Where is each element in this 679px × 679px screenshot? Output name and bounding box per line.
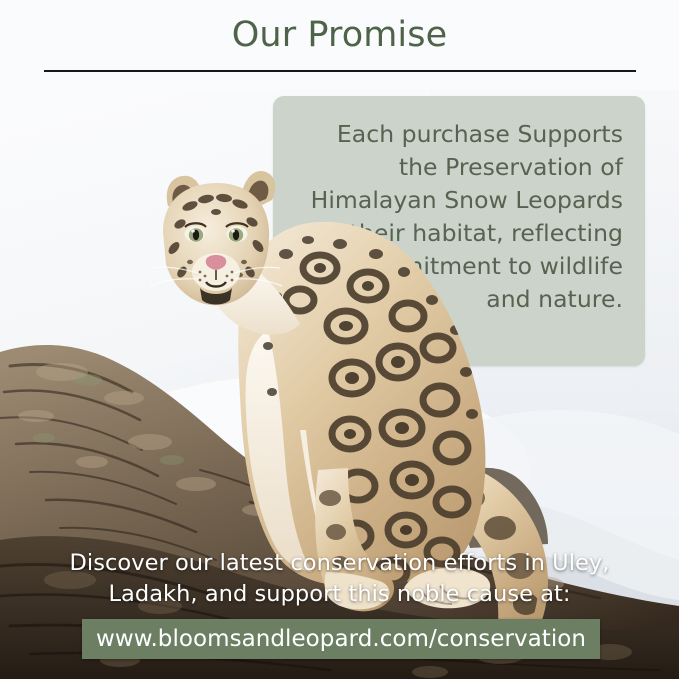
conservation-url[interactable]: www.bloomsandleopard.com/conservation: [96, 626, 586, 652]
title-divider: [44, 70, 636, 72]
footer: Discover our latest conservation efforts…: [0, 534, 679, 679]
footer-caption: Discover our latest conservation efforts…: [24, 548, 655, 610]
header: Our Promise: [0, 0, 679, 90]
promise-card: Each purchase Supports the Preservation …: [273, 96, 645, 366]
promo-card: Each purchase Supports the Preservation …: [0, 0, 679, 679]
url-bar[interactable]: www.bloomsandleopard.com/conservation: [82, 619, 600, 659]
page-title: Our Promise: [0, 13, 679, 57]
promise-text: Each purchase Supports the Preservation …: [295, 118, 623, 316]
